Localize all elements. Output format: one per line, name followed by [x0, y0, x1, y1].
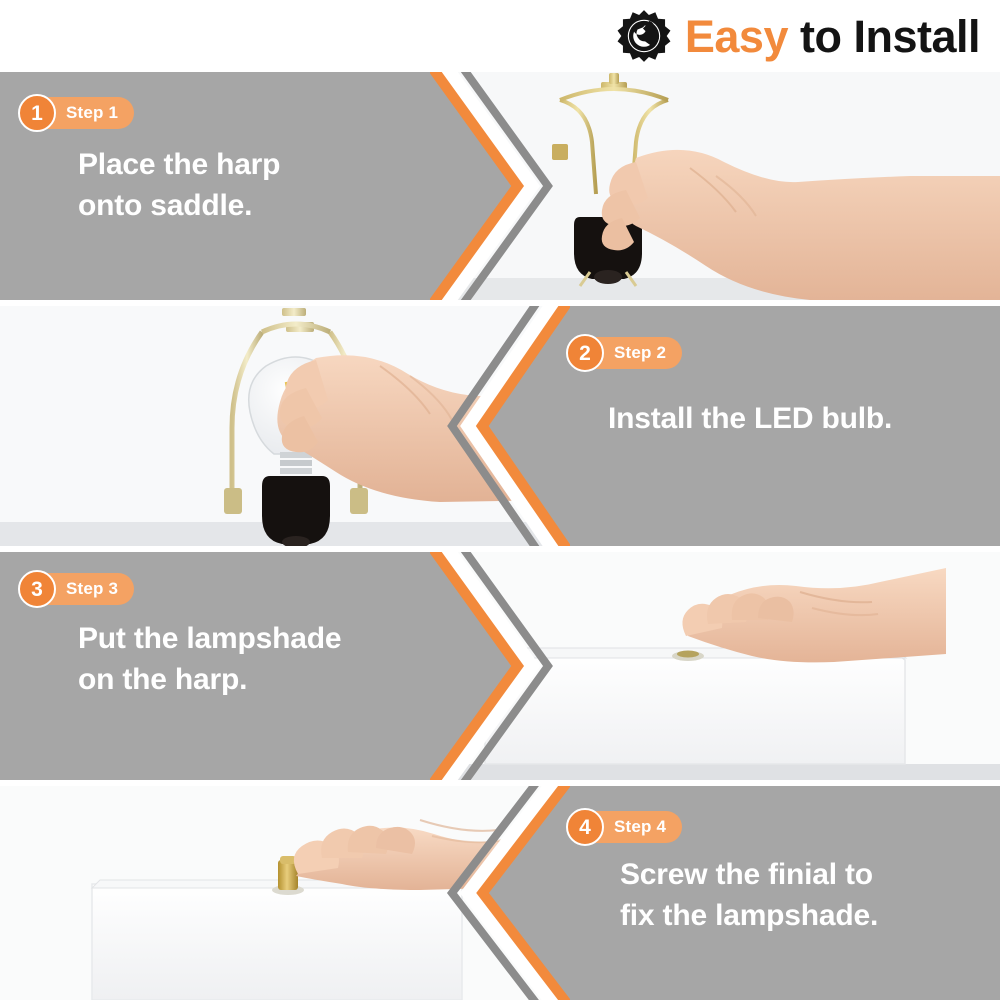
step-label-4: Step 4: [614, 817, 666, 837]
row-separator-3: [0, 780, 1000, 786]
row-separator-1: [0, 300, 1000, 306]
step-photo-4: [0, 786, 560, 1000]
step-row-4: 4 Step 4 Screw the finial to fix the lam…: [0, 786, 1000, 1000]
step-number-1: 1: [18, 94, 56, 132]
step-row-3: 3 Step 3 Put the lampshade on the harp.: [0, 552, 1000, 780]
step-badge-2: 2 Step 2: [566, 334, 682, 372]
step-photo-1: [440, 72, 1000, 300]
easy-to-install-infographic: Easy to Install: [0, 0, 1000, 1000]
page-title-rest: to Install: [788, 11, 980, 62]
step-text-3: Put the lampshade on the harp.: [78, 618, 341, 701]
step-photo-3: [440, 552, 1000, 780]
step-badge-1: 1 Step 1: [18, 94, 134, 132]
step-label-3: Step 3: [66, 579, 118, 599]
step-label-1: Step 1: [66, 103, 118, 123]
step-text-2: Install the LED bulb.: [608, 398, 892, 439]
step-row-2: 2 Step 2 Install the LED bulb.: [0, 306, 1000, 546]
page-title: Easy to Install: [685, 14, 980, 59]
step-badge-3: 3 Step 3: [18, 570, 134, 608]
header: Easy to Install: [0, 0, 1000, 72]
gear-wrench-icon: [617, 9, 671, 63]
row-separator-2: [0, 546, 1000, 552]
step-photo-2: [0, 306, 560, 546]
step-badge-4: 4 Step 4: [566, 808, 682, 846]
step-number-3: 3: [18, 570, 56, 608]
step-label-2: Step 2: [614, 343, 666, 363]
page-title-accent: Easy: [685, 11, 788, 62]
step-number-4: 4: [566, 808, 604, 846]
step-row-1: 1 Step 1 Place the harp onto saddle.: [0, 72, 1000, 300]
step-text-4: Screw the finial to fix the lampshade.: [620, 854, 878, 937]
step-number-2: 2: [566, 334, 604, 372]
step-text-1: Place the harp onto saddle.: [78, 144, 280, 227]
